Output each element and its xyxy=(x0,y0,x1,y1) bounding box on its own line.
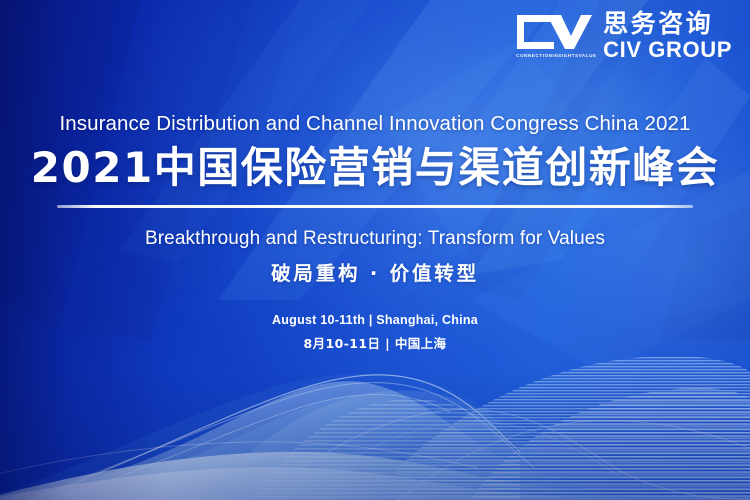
logo-tagline: CONNECTION INSIGHTS VALUE xyxy=(516,53,592,58)
conference-poster: CONNECTION INSIGHTS VALUE 思务咨询 CIV GROUP… xyxy=(0,0,750,500)
brand-name-cn: 思务咨询 xyxy=(603,11,732,37)
brand-logo[interactable]: CONNECTION INSIGHTS VALUE 思务咨询 CIV GROUP xyxy=(514,11,732,63)
title-divider xyxy=(57,205,693,208)
congress-title-cn: 2021中国保险营销与渠道创新峰会 xyxy=(0,144,750,192)
congress-title-en: Insurance Distribution and Channel Innov… xyxy=(0,112,750,137)
brand-name-block: 思务咨询 CIV GROUP xyxy=(603,11,732,63)
event-date-venue-en: August 10-11th | Shanghai, China xyxy=(0,312,750,328)
logo-tagline-word-1: CONNECTION xyxy=(516,53,552,58)
congress-theme-cn: 破局重构 · 价值转型 xyxy=(0,262,750,286)
event-date-venue-cn: 8月10-11日 | 中国上海 xyxy=(0,336,750,352)
logo-tagline-word-2: INSIGHTS xyxy=(553,53,579,58)
poster-content: Insurance Distribution and Channel Innov… xyxy=(0,112,750,352)
cv-monogram-icon: CONNECTION INSIGHTS VALUE xyxy=(514,12,592,62)
congress-theme-en: Breakthrough and Restructuring: Transfor… xyxy=(0,227,750,251)
logo-tagline-word-3: VALUE xyxy=(579,53,597,58)
brand-name-en: CIV GROUP xyxy=(603,38,732,61)
